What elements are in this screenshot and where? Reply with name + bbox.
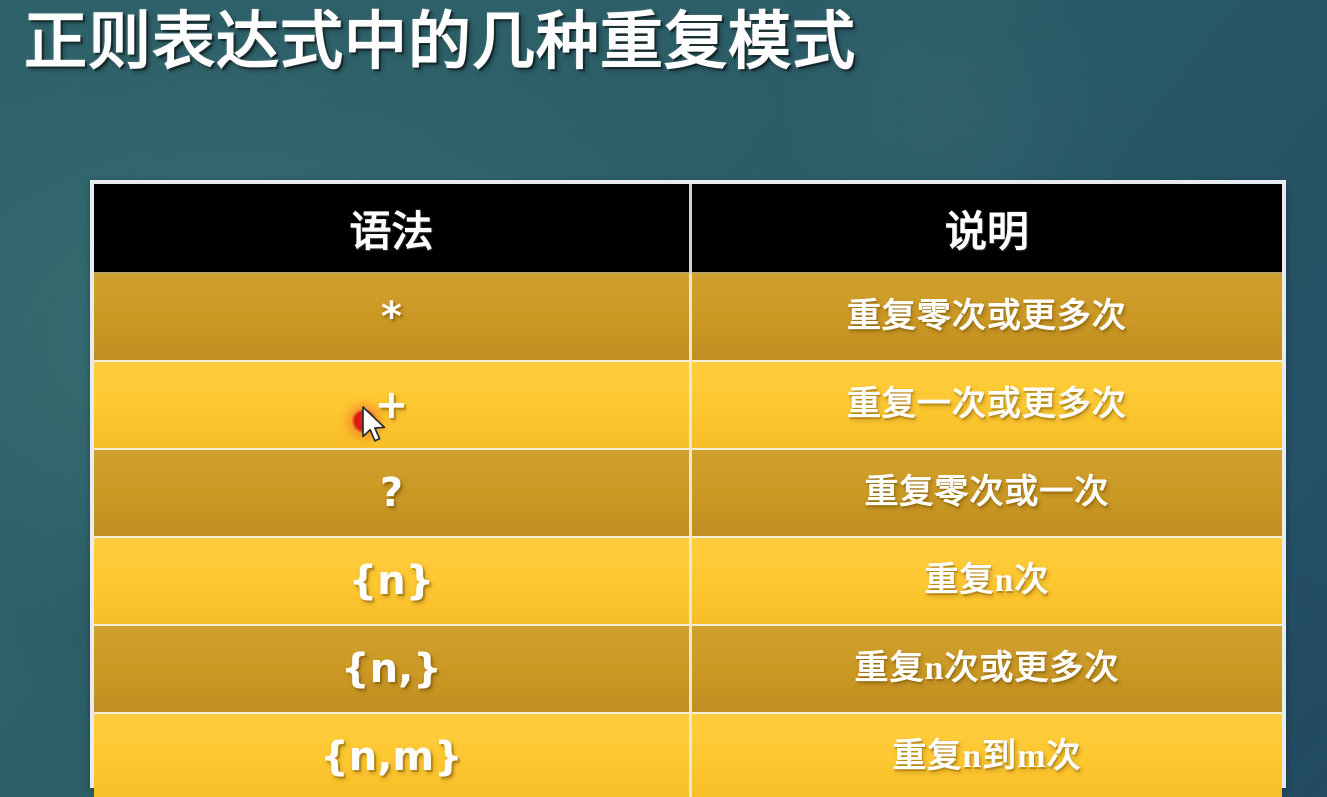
- cell-syntax: {n,}: [94, 625, 690, 713]
- cell-syntax: *: [94, 273, 690, 361]
- table-row: {n} 重复n次: [94, 537, 1282, 625]
- column-header-description: 说明: [690, 184, 1282, 273]
- table-row: {n,m} 重复n到m次: [94, 713, 1282, 797]
- description-value: 重复零次或更多次: [692, 300, 1282, 334]
- table-row: * 重复零次或更多次: [94, 273, 1282, 361]
- cell-description: 重复零次或更多次: [690, 273, 1282, 361]
- cell-description: 重复n次或更多次: [690, 625, 1282, 713]
- slide-canvas: 正则表达式中的几种重复模式 语法 说明 * 重复零次或更多次: [0, 0, 1327, 797]
- cell-syntax: {n}: [94, 537, 690, 625]
- syntax-value: {n,m}: [94, 737, 689, 777]
- repetition-patterns-table: 语法 说明 * 重复零次或更多次 +: [90, 180, 1286, 788]
- cell-syntax: {n,m}: [94, 713, 690, 797]
- table: 语法 说明 * 重复零次或更多次 +: [94, 184, 1282, 797]
- table-row: + 重复一次或更多次: [94, 361, 1282, 449]
- cell-description: 重复零次或一次: [690, 449, 1282, 537]
- syntax-value: {n,}: [94, 649, 689, 689]
- page-title: 正则表达式中的几种重复模式: [24, 0, 856, 88]
- cell-description: 重复一次或更多次: [690, 361, 1282, 449]
- cell-description: 重复n次: [690, 537, 1282, 625]
- description-value: 重复n次: [692, 564, 1282, 598]
- cell-description: 重复n到m次: [690, 713, 1282, 797]
- syntax-value: {n}: [94, 561, 689, 601]
- table-body: * 重复零次或更多次 + 重复一次或更多次 ?: [94, 273, 1282, 797]
- description-value: 重复一次或更多次: [692, 388, 1282, 422]
- table-row: {n,} 重复n次或更多次: [94, 625, 1282, 713]
- description-value: 重复零次或一次: [692, 476, 1282, 510]
- column-header-syntax: 语法: [94, 184, 690, 273]
- cell-syntax: ?: [94, 449, 690, 537]
- cell-syntax: +: [94, 361, 690, 449]
- syntax-value: *: [94, 297, 689, 337]
- description-value: 重复n次或更多次: [692, 652, 1282, 686]
- syntax-value: ?: [94, 473, 689, 513]
- table-header: 语法 说明: [94, 184, 1282, 273]
- table-header-row: 语法 说明: [94, 184, 1282, 273]
- syntax-value: +: [94, 385, 689, 425]
- description-value: 重复n到m次: [692, 740, 1282, 774]
- table-row: ? 重复零次或一次: [94, 449, 1282, 537]
